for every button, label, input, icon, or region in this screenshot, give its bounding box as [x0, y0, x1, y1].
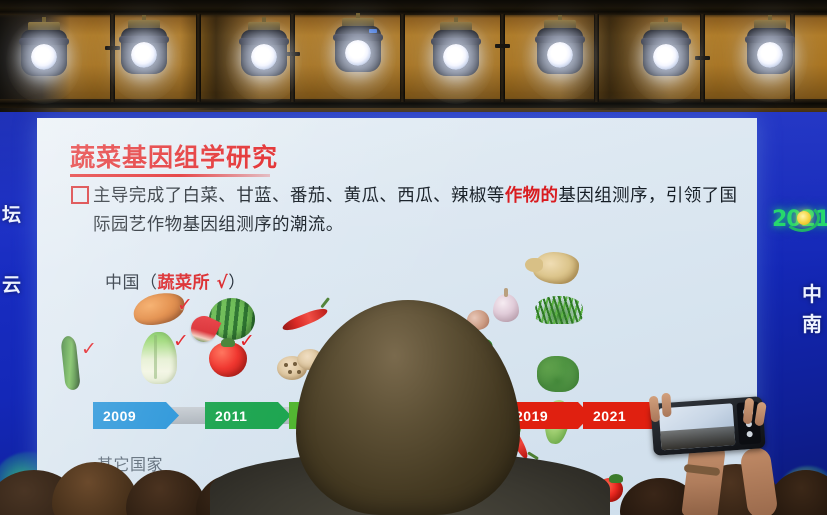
light-bulb-icon [131, 42, 157, 68]
light-indicator-icon [369, 29, 377, 33]
light-bulb-icon [251, 44, 277, 70]
china-label-suffix: ） [228, 273, 246, 293]
slide-title: 蔬菜基因组学研究 [70, 138, 278, 174]
title-underline [70, 174, 270, 177]
veg-chives [535, 296, 583, 324]
china-row-label: 中国（蔬菜所 √） [105, 268, 246, 293]
stage-light [118, 20, 170, 82]
gallery-button[interactable] [746, 431, 752, 437]
lotus-hole [293, 362, 297, 366]
truss-pole [290, 14, 295, 102]
chili-pepper-icon [281, 305, 330, 333]
napa-cabbage-icon [141, 332, 177, 384]
lotus-hole [288, 370, 292, 374]
chives-icon [535, 296, 583, 324]
china-label-prefix: 中国（ [105, 273, 158, 293]
veg-ginger [533, 252, 579, 284]
light-bulb-icon [653, 44, 679, 70]
timeline-year-2009[interactable]: 2009 [93, 402, 179, 429]
phone-camera-preview [660, 426, 735, 450]
light-bulb-icon [757, 42, 783, 68]
backdrop-left-char-1: 坛 [2, 200, 22, 227]
veg-checkmark-icon: ✓ [177, 296, 193, 315]
veg-lotus-root [277, 356, 307, 380]
veg-broccoli [537, 356, 579, 392]
slide-bullet-text: 主导完成了白菜、甘蓝、番茄、黄瓜、西瓜、辣椒等作物的基因组测序，引领了国际园艺作… [93, 182, 741, 240]
stage-light [744, 20, 796, 82]
veg-checkmark-icon: ✓ [81, 340, 97, 359]
light-bulb-icon [31, 44, 57, 70]
veg-garlic [493, 294, 519, 322]
bullet-segment-highlight: 作物的 [505, 186, 559, 206]
veg-checkmark-icon: ✓ [239, 332, 255, 351]
veg-napa-cabbage: ✓ [141, 332, 177, 384]
truss-pole [196, 14, 201, 102]
timeline-year-2011[interactable]: 2011 [205, 402, 291, 429]
light-bulb-icon [443, 44, 469, 70]
garlic-icon [493, 294, 519, 322]
broccoli-icon [537, 356, 579, 392]
truss-pole [594, 14, 599, 102]
china-label-institute: 蔬菜所 √ [158, 273, 229, 293]
logo-swoosh-icon [784, 204, 820, 232]
veg-cucumber: ✓ [63, 336, 78, 390]
truss-pole [500, 14, 505, 102]
backdrop-right-char-2: 南 [802, 308, 823, 337]
cucumber-icon [60, 335, 81, 390]
backdrop-right-char-1: 中 [802, 278, 823, 307]
light-bulb-icon [547, 42, 573, 68]
stage-light [18, 22, 70, 84]
lotus-hole [284, 363, 288, 367]
stage-light [430, 22, 482, 84]
truss-pole [400, 14, 405, 102]
bullet-segment-1: 主导完成了白菜、甘蓝、番茄、黄瓜、西瓜、辣椒等 [93, 186, 505, 206]
finger [661, 393, 671, 417]
conference-photo-scene: 坛 云 2021 中 南 蔬菜基因组学研究 主导完成了白菜、甘蓝、番茄、黄瓜、西… [0, 0, 827, 515]
stage-light [332, 18, 384, 80]
stage-light [640, 22, 692, 84]
truss-pole [110, 14, 115, 102]
backdrop-left-char-2: 云 [2, 270, 22, 297]
veg-sweet-potato: ✓ [133, 294, 185, 324]
veg-checkmark-icon: ✓ [173, 332, 189, 351]
square-bullet-icon [71, 186, 89, 204]
ginger-icon [533, 252, 579, 284]
light-bulb-icon [345, 40, 371, 66]
lotus-hole [297, 370, 301, 374]
truss-clamp [695, 56, 710, 60]
veg-tomato: ✓ [209, 342, 247, 377]
stage-light [534, 20, 586, 82]
truss-clamp [495, 44, 510, 48]
stage-light [238, 22, 290, 84]
veg-chili-pepper [281, 314, 329, 325]
